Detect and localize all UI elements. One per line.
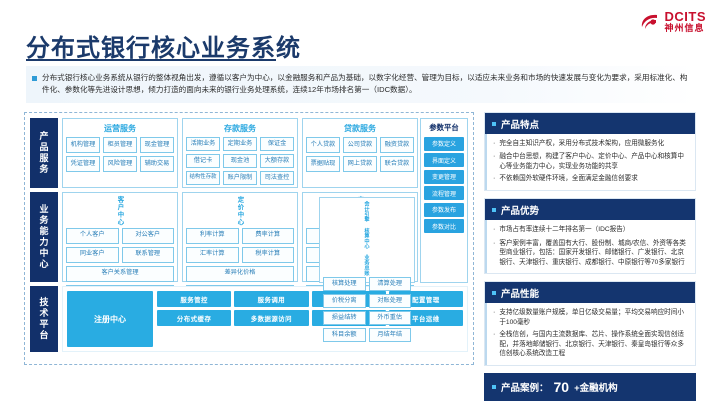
group-operations: 运营服务 机构管理 柜员管理 现金管理 凭证管理 风险管理 辅助交易 [62, 118, 178, 188]
cell-personal-customer[interactable]: 个人客户 [66, 228, 119, 244]
cell-account-limit[interactable]: 账户限制 [223, 171, 257, 185]
panel-head-product-advantages: 产品优势 [485, 199, 695, 220]
architecture-diagram: 产品服务 运营服务 机构管理 柜员管理 现金管理 凭证管理 风险管理 辅助交易 … [24, 112, 474, 365]
group-title-operations: 运营服务 [66, 122, 174, 137]
cell-bill-discount[interactable]: 票据贴现 [306, 156, 340, 172]
cell-reconciliation[interactable]: 对账处理 [369, 294, 412, 308]
params-button-compare[interactable]: 参数对比 [424, 219, 464, 233]
cell-org-mgmt[interactable]: 机构管理 [66, 137, 100, 153]
case-tail: +金融机构 [574, 380, 618, 394]
panel-body-product-advantages: · 市场占有率连续十二年排名第一（IDC报告） · 客户案例丰富，覆盖国有大行、… [485, 220, 695, 273]
bullet-dot-icon: · [493, 330, 495, 359]
params-platform-title: 参数平台 [424, 122, 464, 133]
cell-customer-relationship[interactable]: 客户关系管理 [66, 266, 174, 282]
cell-tax-calc[interactable]: 税率计算 [242, 247, 295, 263]
title-underline [26, 59, 276, 61]
panel-title: 产品优势 [501, 203, 539, 217]
arch-row-product-services: 产品服务 运营服务 机构管理 柜员管理 现金管理 凭证管理 风险管理 辅助交易 … [30, 118, 468, 188]
group-pricing-center: 定价中心 利率计算 费率计算 汇率计算 税率计算 差异化价格 个性化价格 [182, 192, 298, 282]
cell-account-balance[interactable]: 科目余额 [323, 328, 366, 342]
cell-differentiated-price[interactable]: 差异化价格 [186, 266, 294, 282]
cell-online-loan[interactable]: 网上贷款 [343, 156, 377, 172]
bullet-item: · 客户案例丰富，覆盖国有大行、股份制、城商/农信、外资等各类型商业银行，包括：… [493, 239, 688, 268]
cell-judicial-control[interactable]: 司法查控 [260, 171, 294, 185]
cell-interest-calc[interactable]: 利率计算 [186, 228, 239, 244]
group-customer-center: 客户中心 个人客户 对公客户 同业客户 联系管理 客户关系管理 客户协议管理 [62, 192, 178, 282]
cell-time-deposit[interactable]: 定期业务 [223, 137, 257, 151]
cell-contact-mgmt[interactable]: 联系管理 [122, 247, 175, 263]
bullet-square-icon [492, 122, 496, 126]
cell-accounting-process[interactable]: 核算处理 [323, 277, 366, 291]
panel-head-product-features: 产品特点 [485, 113, 695, 134]
cell-large-deposit[interactable]: 大额存款 [260, 154, 294, 168]
cell-margin[interactable]: 保证金 [260, 137, 294, 151]
bullet-dot-icon: · [493, 174, 495, 184]
info-panels: 产品特点 · 完全自主知识产权，采用分布式技术架构，应用微服务化 · 融合中台思… [484, 112, 696, 401]
bullet-text: 客户案例丰富，覆盖国有大行、股份制、城商/农信、外资等各类型商业银行，包括：国家… [499, 239, 688, 268]
bullet-text: 完全自主知识产权，采用分布式技术架构，应用微服务化 [499, 139, 664, 149]
bullet-dot-icon: · [493, 239, 495, 268]
intro-block: 分布式银行核心业务系统从银行的整体视角出发，遵循以客户为中心，以金融服务和产品为… [26, 66, 696, 103]
cell-corporate-loan[interactable]: 公司贷款 [343, 137, 377, 153]
panel-product-performance: 产品性能 · 支持亿级数量账户规模，单日亿级交易量；平均交易响应时间小于100毫… [484, 281, 696, 366]
cell-price-tax-split[interactable]: 价税分离 [323, 294, 366, 308]
cell-debit-card[interactable]: 借记卡 [186, 154, 220, 168]
panel-product-advantages: 产品优势 · 市场占有率连续十二年排名第一（IDC报告） · 客户案例丰富，覆盖… [484, 198, 696, 274]
cell-fx-calc[interactable]: 汇率计算 [186, 247, 239, 263]
panel-body-product-performance: · 支持亿级数量账户规模，单日亿级交易量；平均交易响应时间小于100毫秒 · 全… [485, 303, 695, 365]
cell-cash-pool[interactable]: 现金池 [223, 154, 257, 168]
tech-distributed-cache[interactable]: 分布式缓存 [157, 310, 231, 326]
cell-month-year-close[interactable]: 月结年结 [369, 328, 412, 342]
arch-row-capability-centers: 业务能力中心 客户中心 个人客户 对公客户 同业客户 联系管理 客户关系管理 客… [30, 192, 468, 282]
bullet-text: 融合中台思想，构建了客户中心、定价中心、产品中心和核算中心等业务能力中心，实现业… [499, 152, 688, 171]
brand-name-en: DCITS [665, 10, 707, 23]
row-label-tech-platform: 技术平台 [30, 286, 58, 352]
panel-title: 产品性能 [501, 286, 539, 300]
cell-pl-carryover[interactable]: 损益结转 [323, 311, 366, 325]
cell-risk-mgmt[interactable]: 风险管理 [103, 156, 137, 172]
params-button-publish[interactable]: 参数发布 [424, 203, 464, 217]
tech-service-governance[interactable]: 服务管控 [157, 291, 231, 307]
brand-name-cn: 神州信息 [665, 24, 707, 33]
cell-fx-revaluation[interactable]: 外币重估 [369, 311, 412, 325]
dcits-logo-icon [639, 11, 661, 33]
bullet-square-icon [492, 291, 496, 295]
cell-structured-deposit[interactable]: 结构性存款 [186, 171, 220, 185]
bullet-dot-icon: · [493, 139, 495, 149]
params-button-process-mgmt[interactable]: 流程管理 [424, 186, 464, 200]
panel-product-case: 产品案例： 70 +金融机构 [484, 373, 696, 401]
vlabel-pricing-center: 定价中心 [186, 196, 294, 226]
bullet-item: · 融合中台思想，构建了客户中心、定价中心、产品中心和核算中心等业务能力中心，实… [493, 152, 688, 171]
panel-title: 产品特点 [501, 117, 539, 131]
cell-cash-mgmt[interactable]: 现金管理 [140, 137, 174, 153]
group-accounting-center: 会计引擎 核算中心 业务总账 核算处理 清算处理 价税分离 对账处理 损益结转 … [319, 197, 415, 283]
bullet-square-icon [492, 208, 496, 212]
cell-fee-calc[interactable]: 费率计算 [242, 228, 295, 244]
params-button-ui-define[interactable]: 界面定义 [424, 153, 464, 167]
tech-multi-datasource[interactable]: 多数据源访问 [234, 310, 308, 326]
bullet-item: · 支持亿级数量账户规模，单日亿级交易量；平均交易响应时间小于100毫秒 [493, 308, 688, 327]
bullet-item: · 全栈信创，与国内主流数据库、芯片、操作系统全面实现信创适配，并落地邮储银行、… [493, 330, 688, 359]
panel-head-product-performance: 产品性能 [485, 282, 695, 303]
tech-service-invoke[interactable]: 服务调用 [234, 291, 308, 307]
cell-corporate-customer[interactable]: 对公客户 [122, 228, 175, 244]
bullet-text: 市场占有率连续十二年排名第一（IDC报告） [499, 225, 629, 235]
row-label-product-services: 产品服务 [30, 118, 58, 188]
case-label: 产品案例： [501, 380, 549, 394]
group-title-loan: 贷款服务 [306, 122, 414, 137]
panel-product-features: 产品特点 · 完全自主知识产权，采用分布式技术架构，应用微服务化 · 融合中台思… [484, 112, 696, 191]
row-label-capability-centers: 业务能力中心 [30, 192, 58, 282]
cell-joint-loan[interactable]: 联合贷款 [380, 156, 414, 172]
bullet-text: 不依赖国外软硬件环境，全面满足金融信创要求 [499, 174, 637, 184]
tech-register-center[interactable]: 注册中心 [67, 291, 153, 347]
cell-financing-loan[interactable]: 融资贷款 [380, 137, 414, 153]
brand-logo: DCITS 神州信息 [639, 10, 707, 33]
cell-personal-loan[interactable]: 个人贷款 [306, 137, 340, 153]
bullet-text: 支持亿级数量账户规模，单日亿级交易量；平均交易响应时间小于100毫秒 [499, 308, 688, 327]
group-deposit: 存款服务 活期业务 定期业务 保证金 借记卡 现金池 大额存款 结构性存款 账户… [182, 118, 298, 188]
bullet-text: 全栈信创，与国内主流数据库、芯片、操作系统全面实现信创适配，并落地邮储银行、北京… [499, 330, 688, 359]
bullet-square-icon [32, 76, 37, 81]
cell-voucher-mgmt[interactable]: 凭证管理 [66, 156, 100, 172]
bullet-dot-icon: · [493, 152, 495, 171]
cell-demand-deposit[interactable]: 活期业务 [186, 137, 220, 151]
group-title-deposit: 存款服务 [186, 122, 294, 137]
vlabel-customer-center: 客户中心 [66, 196, 174, 226]
cell-settlement-process[interactable]: 清算处理 [369, 277, 412, 291]
params-platform: 参数平台 参数定义 界面定义 变更管理 流程管理 参数发布 参数对比 [420, 118, 468, 283]
cell-aux-trade[interactable]: 辅助交易 [140, 156, 174, 172]
vlabel-accounting-center: 会计引擎 核算中心 业务总账 [323, 201, 411, 275]
case-number: 70 [554, 379, 570, 395]
intro-text: 分布式银行核心业务系统从银行的整体视角出发，遵循以客户为中心，以金融服务和产品为… [42, 72, 688, 97]
bullet-item: · 不依赖国外软硬件环境，全面满足金融信创要求 [493, 174, 688, 184]
group-loan: 贷款服务 个人贷款 公司贷款 融资贷款 票据贴现 网上贷款 联合贷款 [302, 118, 418, 188]
cell-interbank-customer[interactable]: 同业客户 [66, 247, 119, 263]
cell-teller-mgmt[interactable]: 柜员管理 [103, 137, 137, 153]
bullet-item: · 完全自主知识产权，采用分布式技术架构，应用微服务化 [493, 139, 688, 149]
bullet-square-icon [492, 385, 496, 389]
bullet-dot-icon: · [493, 308, 495, 327]
params-button-change-mgmt[interactable]: 变更管理 [424, 170, 464, 184]
page-title: 分布式银行核心业务系统 [26, 28, 301, 63]
bullet-dot-icon: · [493, 225, 495, 235]
panel-body-product-features: · 完全自主知识产权，采用分布式技术架构，应用微服务化 · 融合中台思想，构建了… [485, 134, 695, 190]
bullet-item: · 市场占有率连续十二年排名第一（IDC报告） [493, 225, 688, 235]
params-button-define[interactable]: 参数定义 [424, 137, 464, 151]
